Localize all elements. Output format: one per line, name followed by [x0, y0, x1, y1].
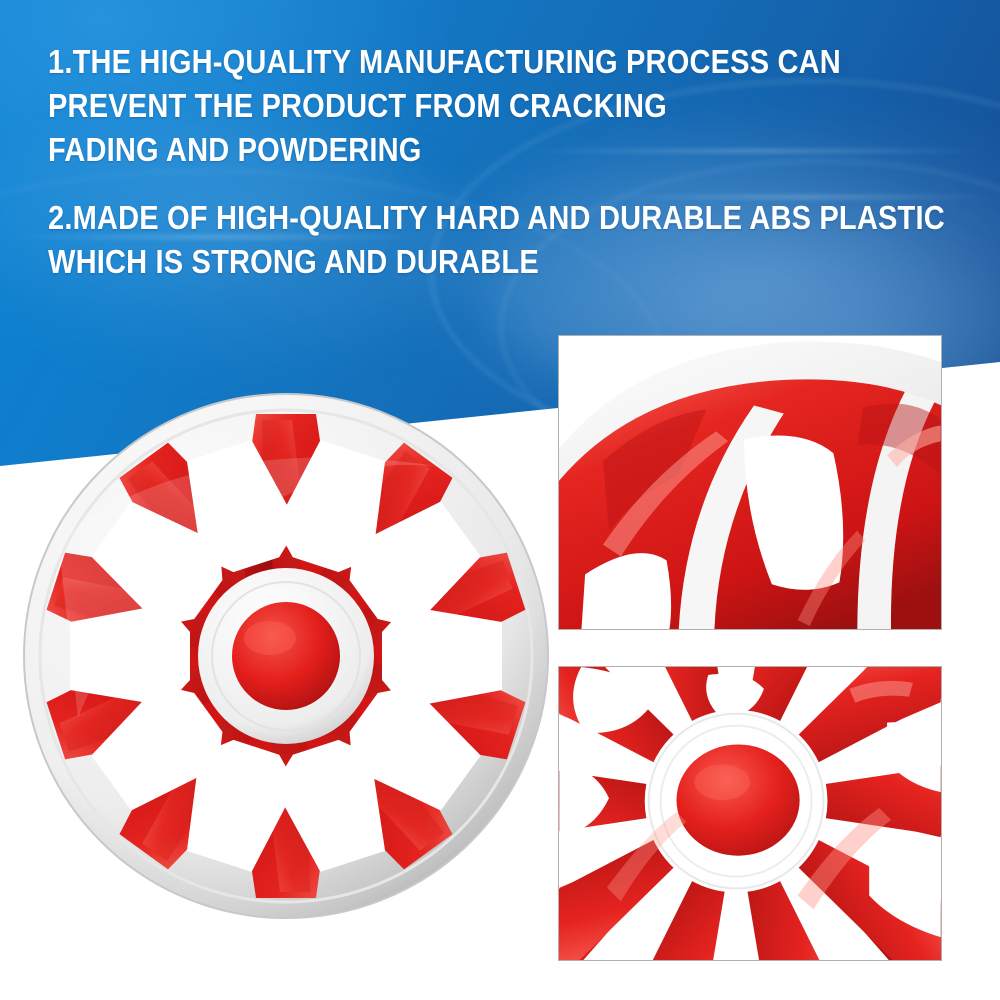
center-cap — [232, 602, 340, 710]
rim-edge-closeup-illustration — [559, 336, 941, 629]
hubcap-hero-image — [18, 388, 558, 928]
bullet-1-line-2: PREVENT THE PRODUCT FROM CRACKING — [48, 84, 840, 128]
feature-bullets: 1.THE HIGH-QUALITY MANUFACTURING PROCESS… — [48, 40, 948, 284]
bullet-1-line-1: 1.THE HIGH-QUALITY MANUFACTURING PROCESS… — [48, 40, 840, 84]
bullet-1-line-3: FADING AND POWDERING — [48, 128, 840, 172]
inset-rim-edge-closeup[interactable] — [558, 335, 942, 630]
inset-center-hub-closeup[interactable] — [558, 666, 942, 961]
bullet-2-line-2: WHICH IS STRONG AND DURABLE — [48, 240, 840, 284]
bullet-2-line-1: 2.MADE OF HIGH-QUALITY HARD AND DURABLE … — [48, 196, 840, 240]
hubcap-illustration — [18, 388, 558, 928]
product-image-canvas: 1.THE HIGH-QUALITY MANUFACTURING PROCESS… — [0, 0, 1000, 1000]
center-hub-closeup-illustration — [559, 667, 941, 960]
center-cap-closeup — [677, 744, 800, 855]
